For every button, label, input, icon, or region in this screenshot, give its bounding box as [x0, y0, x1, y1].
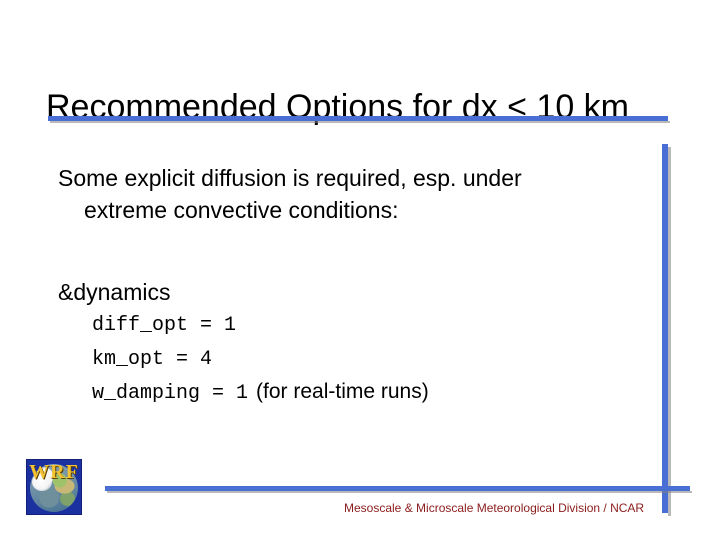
- body-line-1: Some explicit diffusion is required, esp…: [58, 162, 643, 194]
- namelist-note: (for real-time runs): [248, 380, 429, 403]
- namelist-entry: diff_opt = 1: [58, 308, 618, 342]
- body-paragraph: Some explicit diffusion is required, esp…: [58, 162, 643, 226]
- namelist-entry: w_damping = 1(for real-time runs): [58, 376, 618, 410]
- slide-canvas: Recommended Options for dx < 10 km Some …: [0, 0, 720, 540]
- vertical-rule-shadow: [668, 147, 671, 516]
- namelist-entry: km_opt = 4: [58, 342, 618, 376]
- footer-attribution: Mesoscale & Microscale Meteorological Di…: [344, 500, 644, 516]
- namelist-header: &dynamics: [58, 276, 618, 308]
- body-line-2: extreme convective conditions:: [58, 194, 643, 226]
- namelist-block: &dynamics diff_opt = 1 km_opt = 4 w_damp…: [58, 276, 618, 410]
- title-underline-rule: [48, 116, 668, 121]
- namelist-note: [212, 346, 220, 369]
- horizontal-rule-shadow: [107, 491, 692, 493]
- wrf-logo-label: WRF: [27, 461, 81, 483]
- namelist-code: w_damping = 1: [92, 382, 248, 405]
- wrf-logo: WRF: [26, 459, 82, 515]
- vertical-accent-rule: [662, 144, 668, 513]
- namelist-code: km_opt = 4: [92, 348, 212, 371]
- namelist-note: [236, 312, 244, 335]
- namelist-code: diff_opt = 1: [92, 314, 236, 337]
- horizontal-accent-rule: [105, 486, 690, 491]
- title-rule-shadow: [50, 121, 670, 123]
